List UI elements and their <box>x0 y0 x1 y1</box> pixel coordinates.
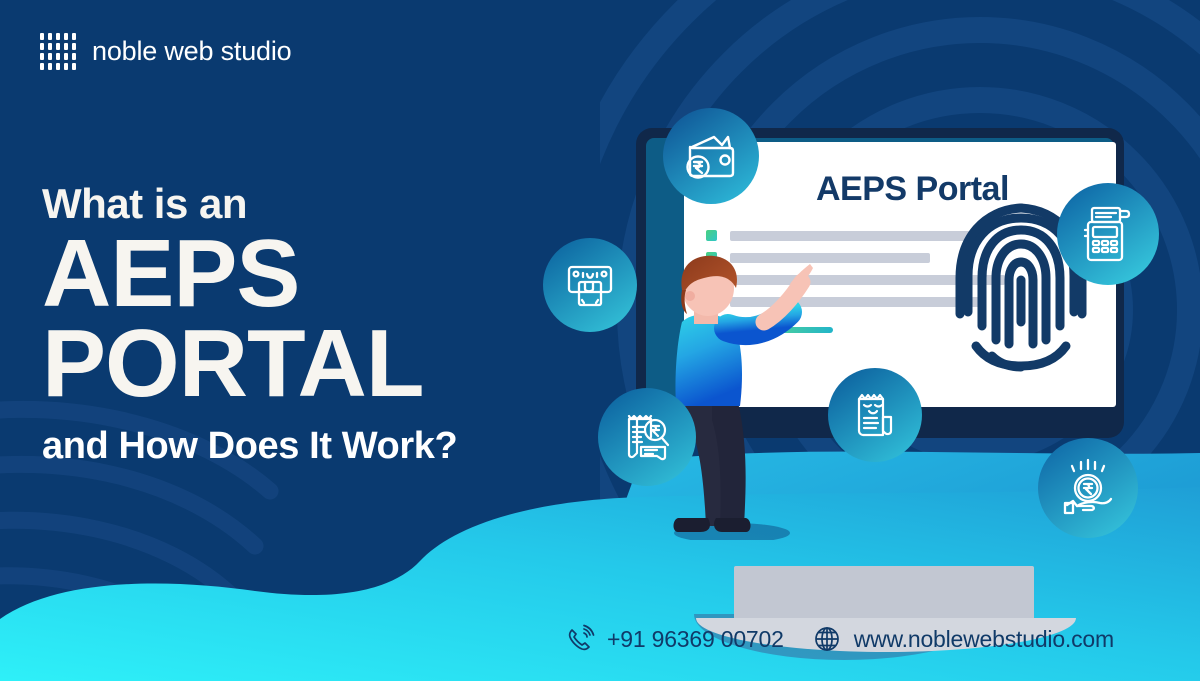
atm-machine-icon <box>543 238 637 332</box>
monitor-neck <box>734 566 1034 620</box>
website-contact[interactable]: www.noblewebstudio.com <box>812 624 1114 654</box>
phone-number: +91 96369 00702 <box>607 626 784 653</box>
phone-ringing-icon <box>565 624 595 654</box>
footer-contact-bar: +91 96369 00702 www.noblewebstudio.com <box>565 624 1114 654</box>
bullet-icon <box>706 230 717 241</box>
receipt-bill-icon <box>828 368 922 462</box>
brand-logo[interactable]: noble web studio <box>40 33 291 70</box>
headline-line-3: PORTAL <box>42 319 602 409</box>
headline-line-1: What is an <box>42 183 602 225</box>
globe-icon <box>812 624 842 654</box>
poster-canvas: noble web studio What is an AEPS PORTAL … <box>0 0 1200 681</box>
wallet-rupee-icon <box>663 108 759 204</box>
invoice-search-icon <box>598 388 696 486</box>
headline-line-4: and How Does It Work? <box>42 425 602 468</box>
list-bar <box>730 231 970 241</box>
phone-contact[interactable]: +91 96369 00702 <box>565 624 784 654</box>
bars-grid-icon <box>40 33 76 70</box>
person-pointing-illustration <box>660 250 820 540</box>
headline-block: What is an AEPS PORTAL and How Does It W… <box>42 183 602 468</box>
brand-logo-text: noble web studio <box>92 36 291 67</box>
headline-line-2: AEPS <box>42 229 602 319</box>
website-url: www.noblewebstudio.com <box>854 626 1114 653</box>
hand-rupee-coin-icon <box>1038 438 1138 538</box>
pos-terminal-icon <box>1057 183 1159 285</box>
